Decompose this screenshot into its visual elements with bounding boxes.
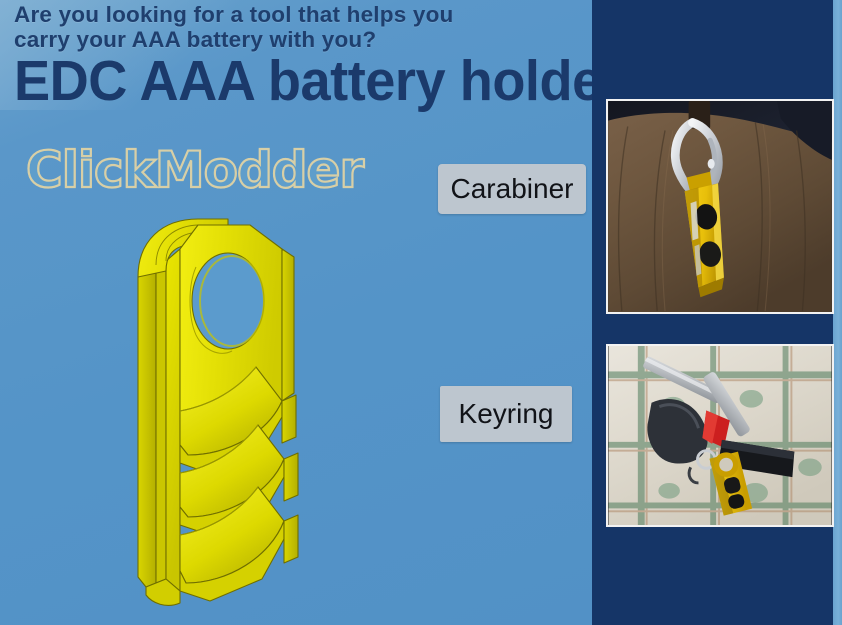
callout-keyring[interactable]: Keyring (440, 386, 572, 442)
brand-wordmark: ClickModder (26, 141, 363, 199)
right-edge-strip (833, 0, 842, 625)
subheadline-line-1: Are you looking for a tool that helps yo… (14, 2, 580, 27)
callout-carabiner[interactable]: Carabiner (438, 164, 586, 214)
carabiner-photo (606, 99, 834, 314)
battery-holder-3d-model (100, 205, 320, 615)
subheadline: Are you looking for a tool that helps yo… (14, 2, 580, 52)
page-title: EDC AAA battery holder (14, 50, 557, 112)
keyring-photo (606, 344, 834, 527)
slide-canvas: Are you looking for a tool that helps yo… (0, 0, 842, 625)
